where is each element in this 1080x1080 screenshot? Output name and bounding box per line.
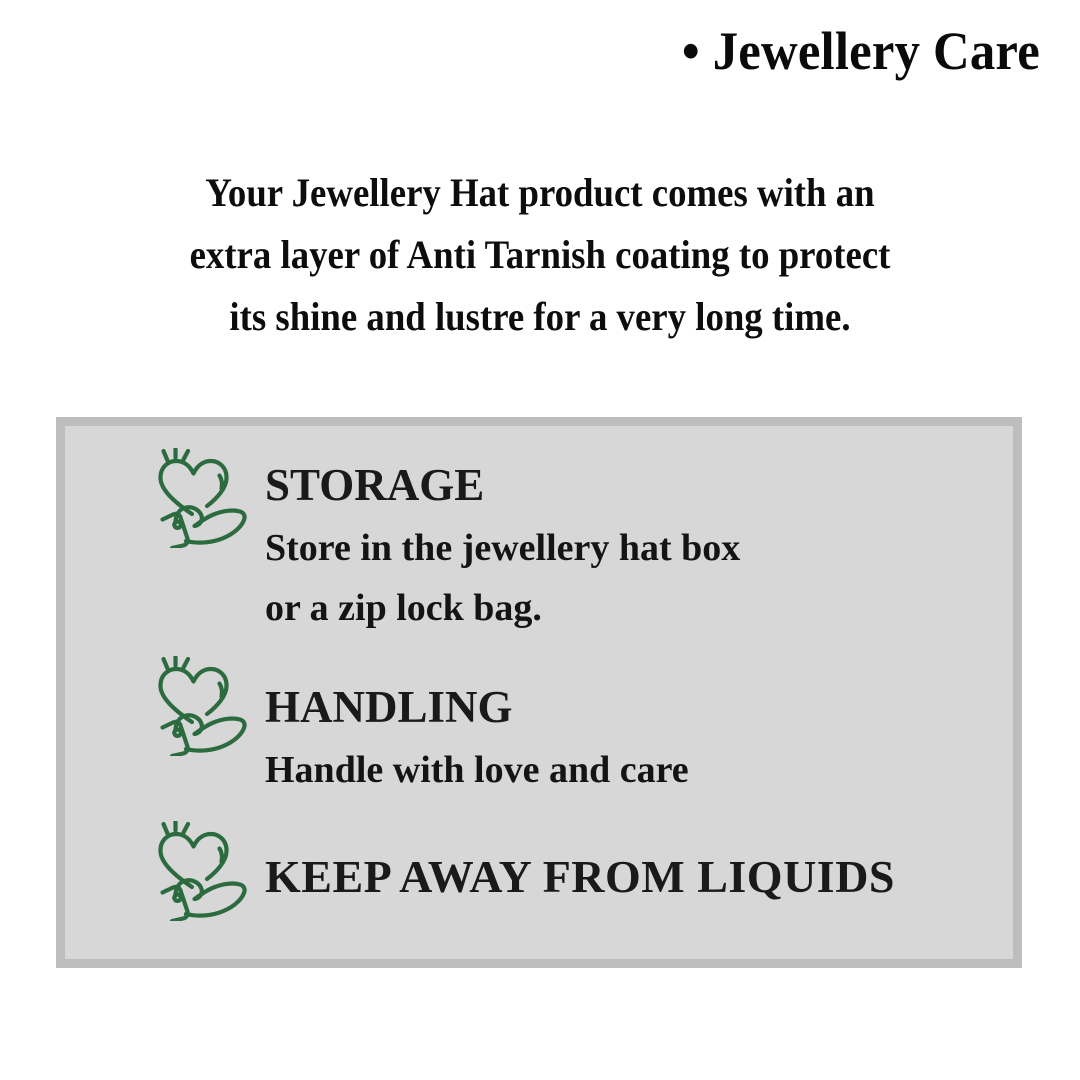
- care-item-text: HANDLING Handle with love and care: [265, 656, 689, 800]
- hand-holding-heart-icon: [145, 821, 249, 921]
- care-item-heading: STORAGE: [265, 460, 484, 510]
- care-item-text: KEEP AWAY FROM LIQUIDS: [265, 821, 895, 903]
- intro-paragraph: Your Jewellery Hat product comes with an…: [108, 162, 973, 348]
- title-bullet-icon: •: [682, 21, 700, 81]
- care-instructions-card: STORAGE Store in the jewellery hat box o…: [56, 417, 1022, 968]
- care-item-description: Store in the jewellery hat box or a zip …: [265, 518, 740, 638]
- jewellery-care-page: • Jewellery Care Your Jewellery Hat prod…: [0, 0, 1080, 1080]
- care-instructions-list: STORAGE Store in the jewellery hat box o…: [65, 426, 1013, 959]
- page-title-text: Jewellery Care: [713, 21, 1040, 81]
- care-item-description: Handle with love and care: [265, 740, 689, 800]
- intro-line-1: Your Jewellery Hat product comes with an: [108, 162, 973, 224]
- care-item-description-line-1: Handle with love and care: [265, 740, 689, 800]
- care-item-heading: KEEP AWAY FROM LIQUIDS: [265, 851, 895, 902]
- intro-line-2: extra layer of Anti Tarnish coating to p…: [108, 224, 973, 286]
- hand-holding-heart-icon: [145, 656, 249, 756]
- hand-holding-heart-icon: [145, 448, 249, 548]
- care-item-handling: HANDLING Handle with love and care: [145, 656, 689, 800]
- intro-line-3: its shine and lustre for a very long tim…: [108, 286, 973, 348]
- care-item-heading: HANDLING: [265, 682, 513, 732]
- page-title: • Jewellery Care: [682, 22, 1040, 81]
- page-title-row: • Jewellery Care: [0, 22, 1080, 81]
- care-item-text: STORAGE Store in the jewellery hat box o…: [265, 448, 740, 638]
- care-item-description-line-1: Store in the jewellery hat box: [265, 518, 740, 578]
- care-item-storage: STORAGE Store in the jewellery hat box o…: [145, 448, 740, 638]
- care-item-description-line-2: or a zip lock bag.: [265, 578, 740, 638]
- care-item-keep-away-from-liquids: KEEP AWAY FROM LIQUIDS: [145, 821, 895, 921]
